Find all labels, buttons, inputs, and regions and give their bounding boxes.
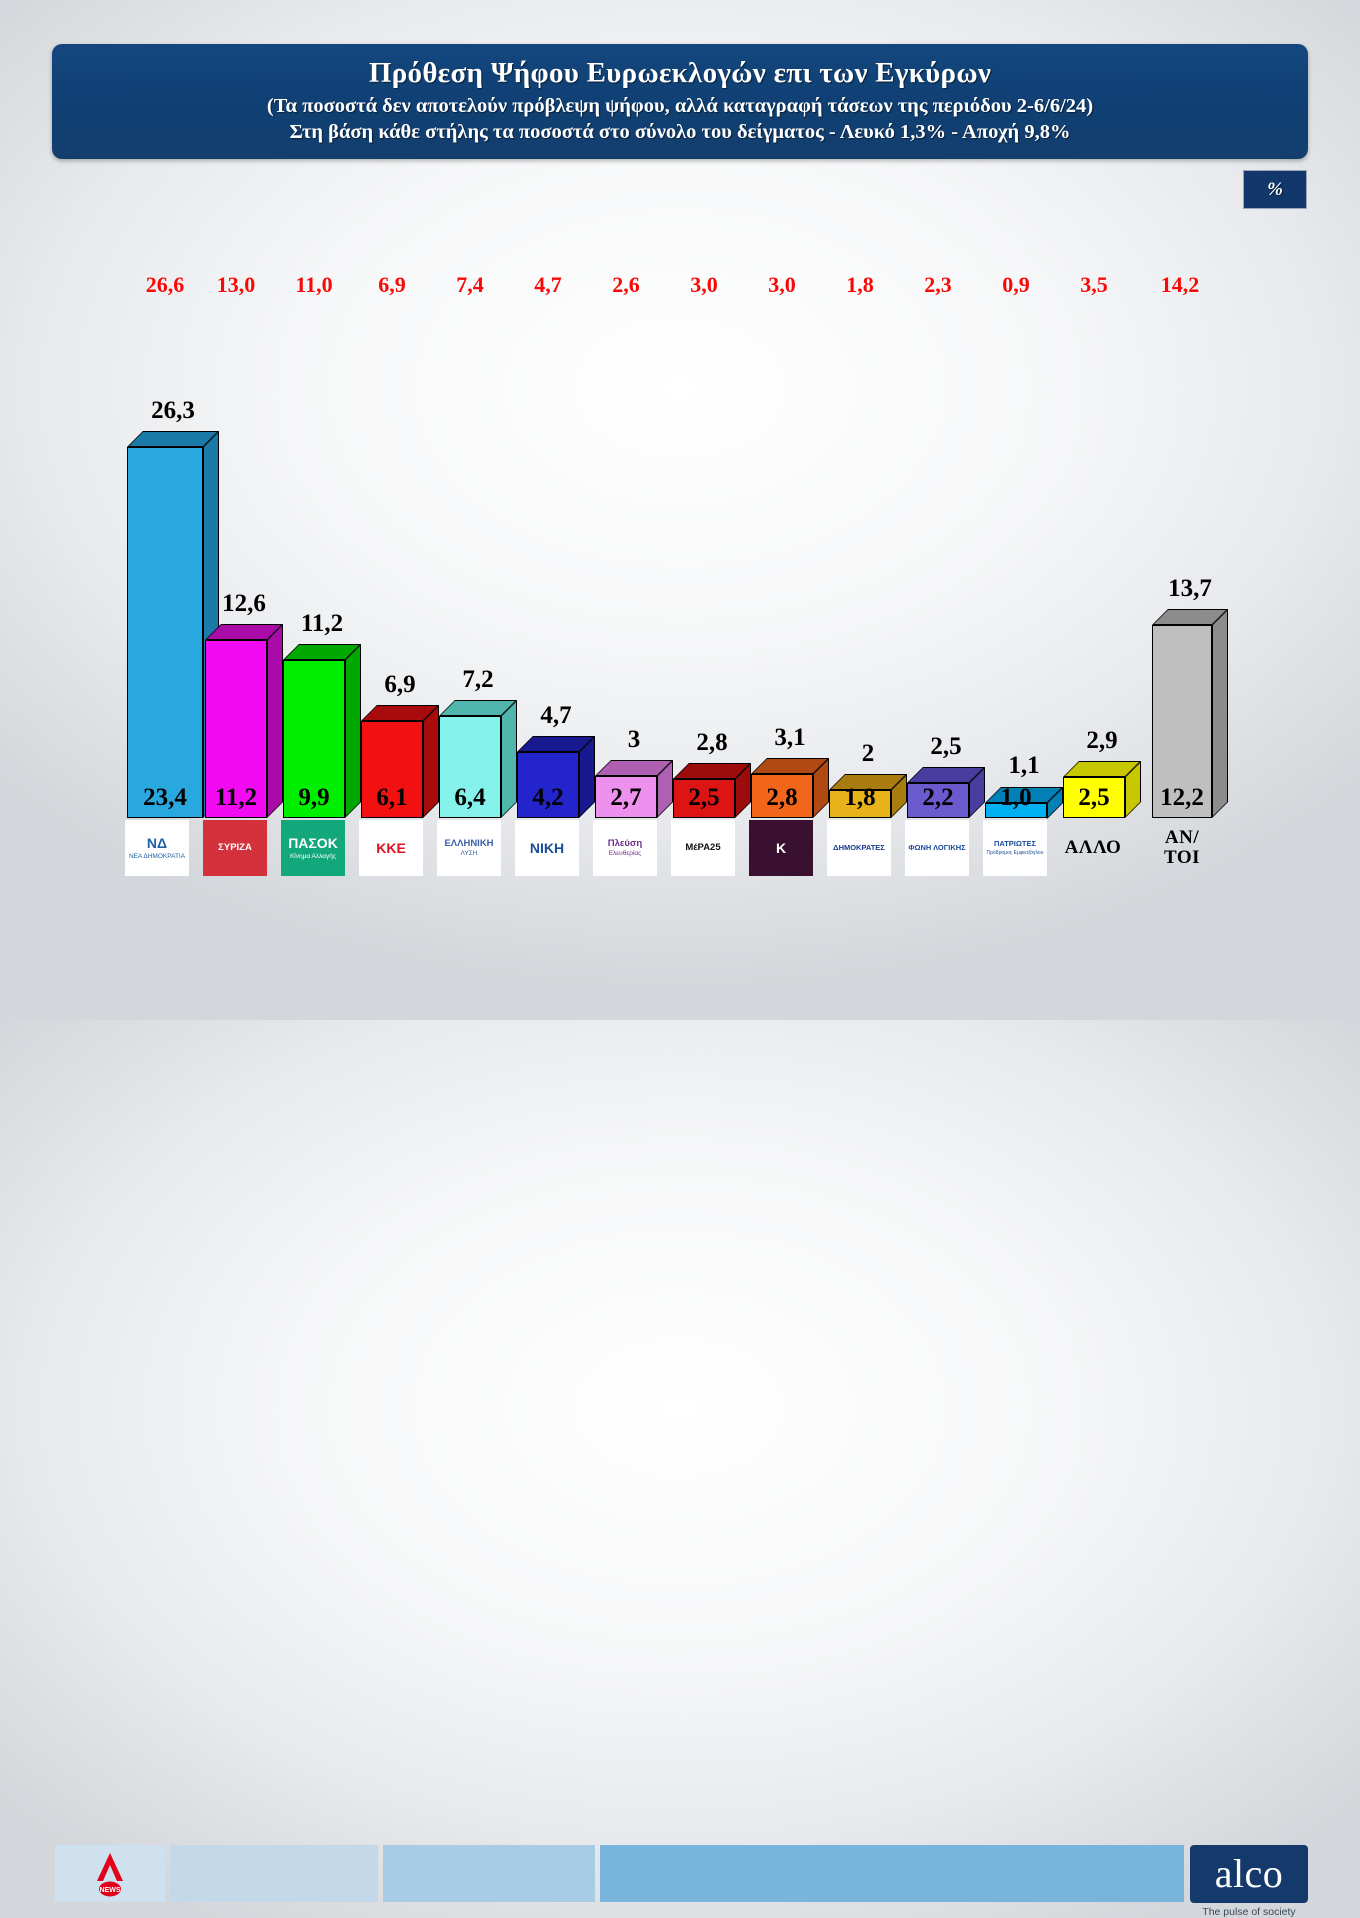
previous-value-2: 11,0	[269, 272, 359, 298]
party-logo-subtext-pasok: Κίνημα Αλλαγής	[290, 853, 336, 860]
party-logo-syriza[interactable]: ΣΥΡΙΖΑ	[203, 820, 267, 876]
footer: NEWS alco The pulse of society	[0, 920, 1360, 1020]
party-logo-antoi[interactable]: ΑΝ/ΤΟΙ	[1150, 820, 1214, 876]
bar-inner-label-12: 2,5	[1063, 784, 1125, 812]
party-logo-dimokrates[interactable]: ΔΗΜΟΚΡΑΤΕΣ	[827, 820, 891, 876]
party-logo-text-kke: ΚΚΕ	[376, 841, 406, 856]
previous-value-1: 13,0	[191, 272, 281, 298]
footer-bar-3	[600, 1845, 1184, 1902]
party-logo-text-niki: ΝΙΚΗ	[530, 841, 564, 856]
bar-top-label-2: 11,2	[263, 610, 381, 638]
party-logo-subtext-plefsi: Ελευθερίας	[609, 850, 642, 857]
alco-wordmark: alco	[1215, 1854, 1284, 1894]
party-logo-nd[interactable]: ΝΔΝΕΑ ΔΗΜΟΚΡΑΤΙΑ	[125, 820, 189, 876]
bar-inner-label-7: 2,5	[673, 784, 735, 812]
bar-inner-label-10: 2,2	[907, 784, 969, 812]
previous-value-13: 14,2	[1135, 272, 1225, 298]
previous-value-10: 2,3	[893, 272, 983, 298]
alpha-news-word: NEWS	[100, 1887, 121, 1894]
alpha-a-icon: NEWS	[93, 1851, 127, 1897]
bar-inner-label-13: 12,2	[1152, 784, 1212, 812]
footer-bar-1	[170, 1845, 378, 1902]
party-logo-kasselakis[interactable]: Κ	[749, 820, 813, 876]
previous-value-5: 4,7	[503, 272, 593, 298]
party-logo-text-plefsi: Πλεύση	[608, 839, 642, 849]
party-logo-text-pasok: ΠΑΣΟΚ	[288, 836, 338, 851]
bar-inner-label-8: 2,8	[751, 784, 813, 812]
party-logo-text-elliniki: ΕΛΛΗΝΙΚΗ	[444, 839, 493, 849]
previous-value-9: 1,8	[815, 272, 905, 298]
party-logo-text-antoi: ΑΝ/ΤΟΙ	[1150, 828, 1214, 868]
alpha-news-logo: NEWS	[55, 1845, 165, 1902]
party-logo-niki[interactable]: ΝΙΚΗ	[515, 820, 579, 876]
party-logo-text-dimokrates: ΔΗΜΟΚΡΑΤΕΣ	[833, 844, 885, 852]
bar-top-label-11: 1,1	[965, 752, 1083, 780]
party-logo-text-syriza: ΣΥΡΙΖΑ	[218, 843, 252, 853]
previous-values-row: 26,613,011,06,97,44,72,63,03,01,82,30,93…	[0, 272, 1360, 302]
bar-top-label-13: 13,7	[1132, 575, 1248, 603]
bar-inner-label-4: 6,4	[439, 784, 501, 812]
party-logo-mera25[interactable]: ΜέΡΑ25	[671, 820, 735, 876]
bar-top-0	[127, 431, 219, 447]
bar-top-label-4: 7,2	[419, 666, 537, 694]
party-logo-elliniki[interactable]: ΕΛΛΗΝΙΚΗΛΥΣΗ	[437, 820, 501, 876]
party-logo-text-allo: ΑΛΛΟ	[1065, 838, 1122, 858]
bar-inner-label-6: 2,7	[595, 784, 657, 812]
party-logo-plefsi[interactable]: ΠλεύσηΕλευθερίας	[593, 820, 657, 876]
bar-inner-label-3: 6,1	[361, 784, 423, 812]
bar-inner-label-2: 9,9	[283, 784, 345, 812]
party-logo-text-kasselakis: Κ	[776, 841, 786, 856]
party-logo-patriotes[interactable]: ΠΑΤΡΙΩΤΕΣΠρόδρομος Εμφιετζόγλου	[983, 820, 1047, 876]
footer-bar-2	[383, 1845, 595, 1902]
bar-side-13	[1212, 609, 1228, 818]
party-logo-foni[interactable]: ΦΩΝΗ ΛΟΓΙΚΗΣ	[905, 820, 969, 876]
alco-logo: alco	[1190, 1845, 1308, 1903]
alco-tagline: The pulse of society	[1190, 1906, 1308, 1918]
party-logo-kke[interactable]: ΚΚΕ	[359, 820, 423, 876]
party-logos-row: ΝΔΝΕΑ ΔΗΜΟΚΡΑΤΙΑΣΥΡΙΖΑΠΑΣΟΚΚίνημα Αλλαγή…	[0, 820, 1360, 880]
party-logo-text-mera25: ΜέΡΑ25	[685, 843, 720, 853]
bar-inner-label-1: 11,2	[205, 784, 267, 812]
previous-value-3: 6,9	[347, 272, 437, 298]
bar-top-label-0: 26,3	[107, 397, 239, 425]
previous-value-6: 2,6	[581, 272, 671, 298]
party-logo-text-nd: ΝΔ	[147, 836, 167, 851]
bar-inner-label-5: 4,2	[517, 784, 579, 812]
party-logo-subtext-patriotes: Πρόδρομος Εμφιετζόγλου	[987, 850, 1044, 856]
previous-value-11: 0,9	[971, 272, 1061, 298]
previous-value-7: 3,0	[659, 272, 749, 298]
bar-top-label-12: 2,9	[1043, 727, 1161, 755]
bar-inner-label-0: 23,4	[127, 784, 203, 812]
previous-value-12: 3,5	[1049, 272, 1139, 298]
bar-side-1	[267, 624, 283, 818]
bar-side-3	[423, 705, 439, 818]
bar-inner-label-11: 1,0	[985, 784, 1047, 812]
previous-value-8: 3,0	[737, 272, 827, 298]
previous-value-4: 7,4	[425, 272, 515, 298]
party-logo-allo[interactable]: ΑΛΛΟ	[1061, 820, 1125, 876]
party-logo-text-patriotes: ΠΑΤΡΙΩΤΕΣ	[994, 840, 1036, 848]
party-logo-pasok[interactable]: ΠΑΣΟΚΚίνημα Αλλαγής	[281, 820, 345, 876]
party-logo-subtext-elliniki: ΛΥΣΗ	[461, 850, 478, 857]
bar-front-0	[127, 447, 203, 818]
bar-inner-label-9: 1,8	[829, 784, 891, 812]
party-logo-subtext-nd: ΝΕΑ ΔΗΜΟΚΡΑΤΙΑ	[129, 853, 185, 860]
party-logo-text-foni: ΦΩΝΗ ΛΟΓΙΚΗΣ	[908, 844, 965, 852]
